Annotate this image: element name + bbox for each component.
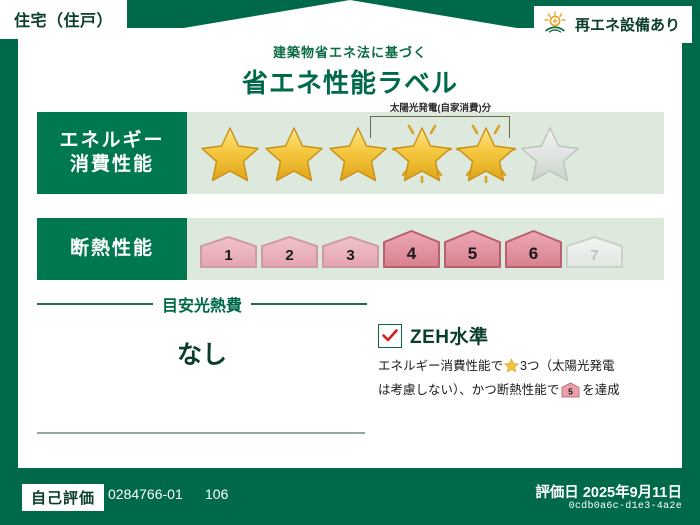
solar-contribution-label: 太陽光発電(自家消費)分 bbox=[363, 100, 518, 114]
energy-performance-label: 住宅（住戸） 再エネ設備あり 建築物省エネ法に基づく 省エネ性能ラベル bbox=[0, 0, 700, 525]
energy-star-6 bbox=[519, 123, 581, 183]
insulation-level-1: 1 bbox=[199, 235, 258, 269]
energy-performance-value: 太陽光発電(自家消費)分 bbox=[187, 112, 664, 194]
energy-star-1 bbox=[199, 123, 261, 183]
insulation-performance-key: 断熱性能 bbox=[37, 218, 187, 280]
zeh-title: ZEH水準 bbox=[410, 322, 489, 349]
energy-performance-row: エネルギー 消費性能 太陽光発電(自家消費)分 bbox=[37, 112, 664, 194]
insulation-level-6: 6 bbox=[504, 229, 563, 269]
zeh-checkbox-checked bbox=[378, 324, 402, 348]
cost-bottom-rule bbox=[37, 432, 365, 434]
energy-key-line2: 消費性能 bbox=[70, 153, 154, 177]
insulation-level-7: 7 bbox=[565, 235, 624, 269]
insulation-performance-value: 1234567 bbox=[187, 218, 664, 280]
energy-performance-key: エネルギー 消費性能 bbox=[37, 112, 187, 194]
energy-star-rating bbox=[187, 123, 581, 183]
evaluation-date: 評価日 2025年9月11日 bbox=[535, 481, 682, 502]
insulation-level-number: 6 bbox=[529, 244, 538, 264]
insulation-level-number: 4 bbox=[407, 244, 416, 264]
cost-rule-left bbox=[37, 303, 153, 305]
zeh-desc-part1: エネルギー消費性能で bbox=[378, 359, 503, 373]
zeh-standard-block: ZEH水準 エネルギー消費性能で 3つ（太陽光発電 は考慮しない）、かつ断熱性能… bbox=[378, 322, 668, 404]
zeh-description: エネルギー消費性能で 3つ（太陽光発電 は考慮しない）、かつ断熱性能で 5 を達… bbox=[378, 356, 668, 404]
cost-heading-text: 目安光熱費 bbox=[162, 292, 242, 316]
insulation-performance-row: 断熱性能 1234567 bbox=[37, 218, 664, 280]
energy-star-5 bbox=[455, 123, 517, 183]
zeh-heading: ZEH水準 bbox=[378, 322, 668, 349]
insulation-level-scale: 1234567 bbox=[187, 229, 624, 269]
title-main: 省エネ性能ラベル bbox=[0, 63, 700, 100]
insulation-level-3: 3 bbox=[321, 235, 380, 269]
insulation-level-number: 2 bbox=[285, 247, 293, 264]
label-hash-code: 0cdb0a6c-d1e3-4a2e bbox=[569, 501, 682, 512]
insulation-level-number: 1 bbox=[224, 247, 232, 264]
title-subtitle: 建築物省エネ法に基づく bbox=[0, 42, 700, 61]
energy-star-3 bbox=[327, 123, 389, 183]
certificate-number: 0284766-01 bbox=[108, 486, 183, 502]
utility-cost-heading: 目安光熱費 bbox=[37, 292, 367, 316]
building-type-tag: 住宅（住戸） bbox=[0, 0, 127, 39]
inline-chevron-level: 5 bbox=[568, 386, 573, 396]
insulation-level-number: 5 bbox=[468, 244, 477, 264]
energy-star-2 bbox=[263, 123, 325, 183]
solar-sun-icon bbox=[542, 11, 568, 38]
insulation-level-5: 5 bbox=[443, 229, 502, 269]
insulation-key-label: 断熱性能 bbox=[70, 237, 154, 261]
inline-chevron-icon: 5 bbox=[561, 382, 580, 405]
cost-rule-right bbox=[251, 303, 367, 305]
label-footer: 自己評価 0284766-01 106 評価日 2025年9月11日 0cdb0… bbox=[0, 468, 700, 525]
zeh-desc-star-count: 3つ（太陽光発電 bbox=[520, 359, 614, 373]
energy-star-4 bbox=[391, 123, 453, 183]
insulation-level-2: 2 bbox=[260, 235, 319, 269]
label-title-block: 建築物省エネ法に基づく 省エネ性能ラベル bbox=[0, 42, 700, 100]
inline-star-icon bbox=[504, 358, 519, 380]
zeh-desc-part2: は考慮しない）、かつ断熱性能で bbox=[378, 383, 559, 397]
energy-key-line1: エネルギー bbox=[59, 129, 164, 153]
renewable-badge-label: 再エネ設備あり bbox=[575, 14, 680, 35]
utility-cost-value: なし bbox=[37, 335, 367, 371]
insulation-level-4: 4 bbox=[382, 229, 441, 269]
renewable-equipment-badge: 再エネ設備あり bbox=[534, 6, 692, 43]
zeh-desc-part3: を達成 bbox=[582, 383, 620, 397]
evaluation-type-badge: 自己評価 bbox=[22, 484, 104, 511]
insulation-level-number: 3 bbox=[346, 247, 354, 264]
insulation-level-number: 7 bbox=[590, 247, 598, 264]
unit-number: 106 bbox=[205, 486, 228, 502]
